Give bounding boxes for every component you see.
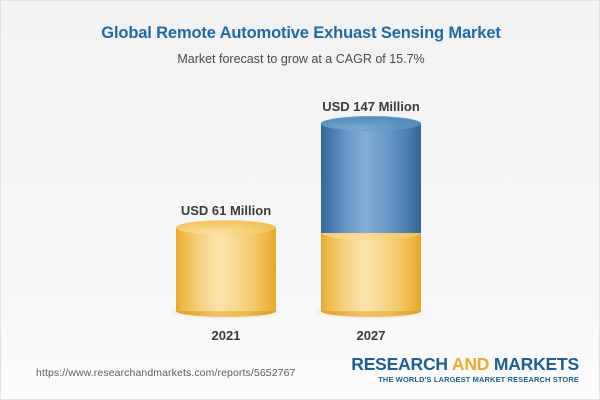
logo-wordmark: RESEARCH AND MARKETS xyxy=(351,355,579,374)
cylinder-2027 xyxy=(321,123,421,311)
cylinder-body-2021 xyxy=(176,227,276,311)
cylinder-segment-blue-2027 xyxy=(321,123,421,233)
logo-word-research: RESEARCH xyxy=(351,354,452,374)
bar-value-label-2021: USD 61 Million xyxy=(146,203,306,219)
research-and-markets-logo[interactable]: RESEARCH AND MARKETS THE WORLD'S LARGEST… xyxy=(351,355,579,385)
source-url-link[interactable]: https://www.researchandmarkets.com/repor… xyxy=(36,367,295,379)
chart-footer: https://www.researchandmarkets.com/repor… xyxy=(1,345,600,399)
bar-category-label-2021: 2021 xyxy=(176,328,276,344)
cylinder-top-2021 xyxy=(176,220,276,235)
chart-plot-area: USD 61 Million 2021 USD 147 Million 2 xyxy=(1,1,600,346)
bar-group-2027: USD 147 Million 2027 xyxy=(321,122,421,346)
chart-card: Global Remote Automotive Exhuast Sensing… xyxy=(0,0,600,400)
logo-word-and: AND xyxy=(452,354,494,374)
bar-category-label-2027: 2027 xyxy=(321,328,421,344)
logo-tagline: THE WORLD'S LARGEST MARKET RESEARCH STOR… xyxy=(351,375,579,385)
cylinder-2021 xyxy=(176,227,276,311)
cylinder-top-2027 xyxy=(321,116,421,131)
bar-value-label-2027: USD 147 Million xyxy=(291,99,451,115)
bar-group-2021: USD 61 Million 2021 xyxy=(176,226,276,346)
cylinder-segment-yellow-2027 xyxy=(321,233,421,311)
logo-word-markets: MARKETS xyxy=(494,354,579,374)
